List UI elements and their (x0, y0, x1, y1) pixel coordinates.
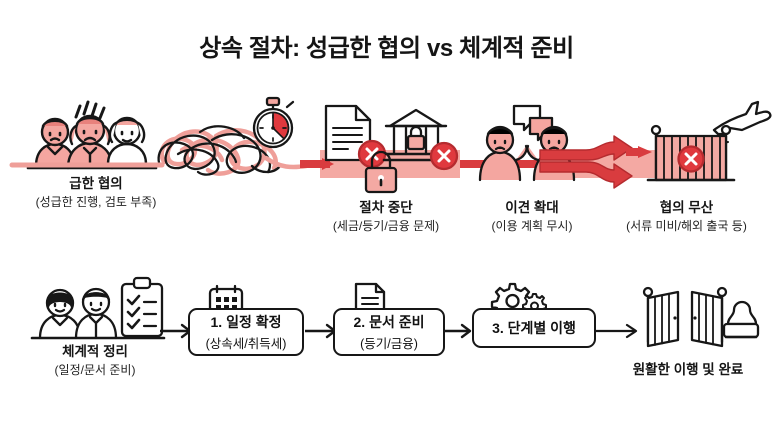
caption-dispute-escalation: 이견 확대 (이용 계획 무시) (462, 200, 602, 234)
step-title: 1. 일정 확정 (211, 312, 282, 332)
caption-subtitle: (이용 계획 무시) (462, 219, 602, 234)
caption-title: 협의 무산 (600, 200, 773, 217)
step-box-3[interactable]: 3. 단계별 이행 (472, 308, 596, 348)
caption-subtitle: (일정/문서 준비) (8, 363, 182, 378)
people-checklist-icon (28, 266, 168, 344)
caption-title: 급한 협의 (0, 176, 192, 193)
caption-procedure-halt: 절차 중단 (세금/등기/금융 문제) (298, 200, 474, 234)
step-subtitle: (상속세/취득세) (206, 333, 287, 352)
caption-subtitle: (서류 미비/해외 출국 등) (600, 219, 773, 234)
caption-title: 절차 중단 (298, 200, 474, 217)
locked-documents-bank-icon (318, 102, 458, 194)
step-box-2[interactable]: 2. 문서 준비 (등기/금융) (333, 308, 445, 356)
bottom-connector-4 (592, 322, 644, 340)
caption-subtitle: (성급한 진행, 검토 부족) (0, 195, 192, 210)
caption-title: 체계적 정리 (8, 344, 182, 361)
hasty-path-connector (12, 152, 182, 178)
step-box-1[interactable]: 1. 일정 확정 (상속세/취득세) (188, 308, 304, 356)
step-subtitle: (등기/금융) (360, 333, 418, 352)
open-gate-stamp-icon (640, 284, 760, 356)
caption-subtitle: (세금/등기/금융 문제) (298, 219, 474, 234)
caption-systematic-organization: 체계적 정리 (일정/문서 준비) (8, 344, 182, 378)
caption-title: 원활한 이행 및 완료 (604, 362, 772, 379)
step-title: 2. 문서 준비 (354, 312, 425, 332)
caption-smooth-completion: 원활한 이행 및 완료 (604, 362, 772, 379)
page-title: 상속 절차: 성급한 협의 vs 체계적 준비 (0, 28, 773, 63)
bottom-connector-3 (440, 322, 476, 340)
caption-consultation-collapse: 협의 무산 (서류 미비/해외 출국 등) (600, 200, 773, 234)
closed-gate-airplane-icon (626, 100, 772, 188)
infographic-canvas: 상속 절차: 성급한 협의 vs 체계적 준비 (0, 0, 773, 422)
caption-title: 이견 확대 (462, 200, 602, 217)
step-title: 3. 단계별 이행 (492, 318, 576, 338)
caption-hasty-consultation: 급한 협의 (성급한 진행, 검토 부족) (0, 176, 192, 210)
